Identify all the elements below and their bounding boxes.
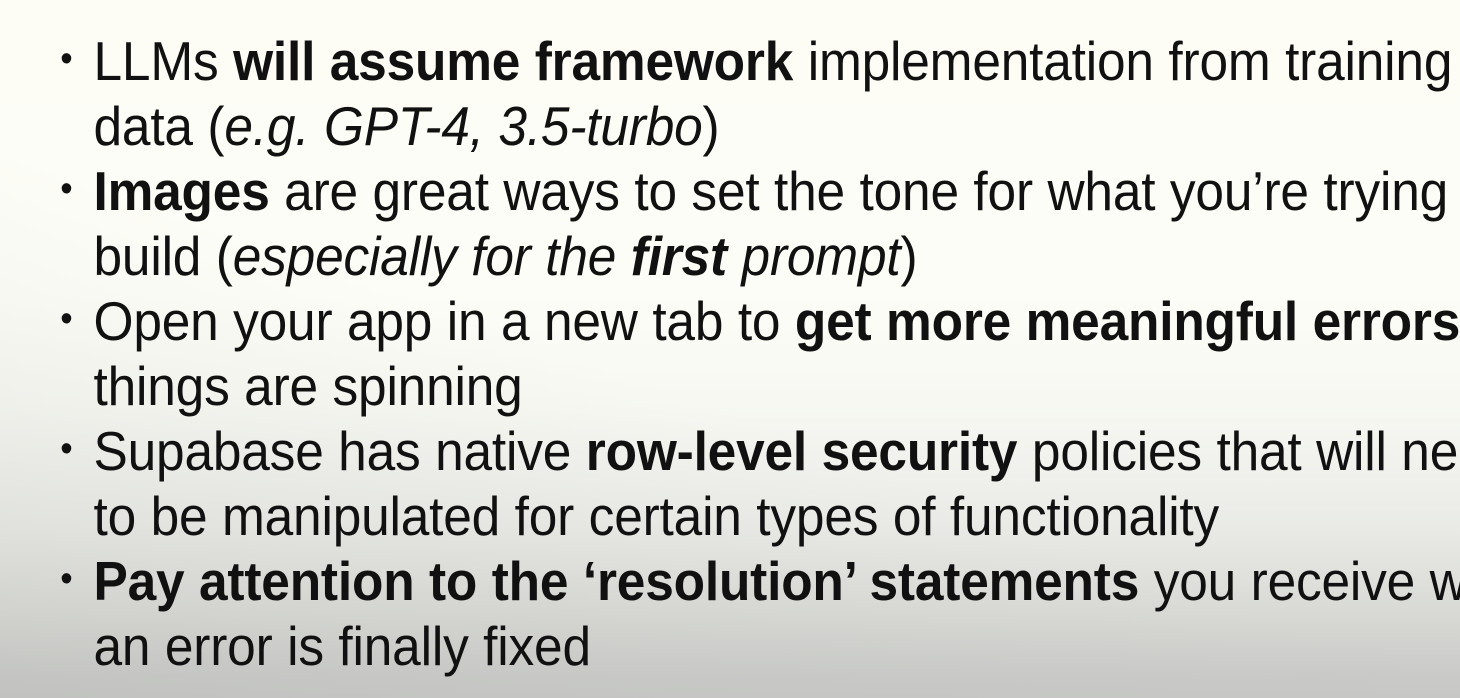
text-run: ) <box>900 225 917 287</box>
text-run: will assume framework <box>233 30 793 92</box>
text-run: especially for the <box>233 225 631 287</box>
bullet-text: LLMs will assume framework implementatio… <box>94 30 1453 157</box>
bullet-item: •Pay attention to the ‘resolution’ state… <box>0 549 1460 679</box>
text-run: e.g. GPT-4, 3.5-turbo <box>224 95 702 157</box>
bullet-point-icon: • <box>60 549 73 614</box>
text-run: first <box>631 225 727 287</box>
text-run: Images <box>94 160 270 222</box>
text-run: Supabase has native <box>94 420 586 482</box>
text-run: ) <box>703 95 720 157</box>
bullet-point-icon: • <box>60 419 73 484</box>
bullet-item: •Supabase has native row-level security … <box>0 419 1460 549</box>
bullet-point-icon: • <box>60 159 73 224</box>
bullet-list: •LLMs will assume framework implementati… <box>0 0 1460 679</box>
bullet-text: Open your app in a new tab to get more m… <box>94 290 1460 417</box>
bullet-text: Images are great ways to set the tone fo… <box>94 160 1460 287</box>
bullet-text: Supabase has native row-level security p… <box>94 420 1460 547</box>
text-run: get more meaningful errors <box>795 290 1460 352</box>
slide-canvas: •LLMs will assume framework implementati… <box>0 0 1460 698</box>
text-run: Pay attention to the ‘resolution’ statem… <box>94 550 1140 612</box>
bullet-item: •LLMs will assume framework implementati… <box>0 29 1460 159</box>
text-run: LLMs <box>94 30 234 92</box>
bullet-text: Pay attention to the ‘resolution’ statem… <box>94 550 1460 677</box>
text-run: prompt <box>727 225 901 287</box>
text-run: Open your app in a new tab to <box>94 290 795 352</box>
bullet-point-icon: • <box>60 29 73 94</box>
bullet-point-icon: • <box>60 289 73 354</box>
text-run: row-level security <box>586 420 1018 482</box>
bullet-item: •Open your app in a new tab to get more … <box>0 289 1460 419</box>
bullet-item: •Images are great ways to set the tone f… <box>0 159 1460 289</box>
